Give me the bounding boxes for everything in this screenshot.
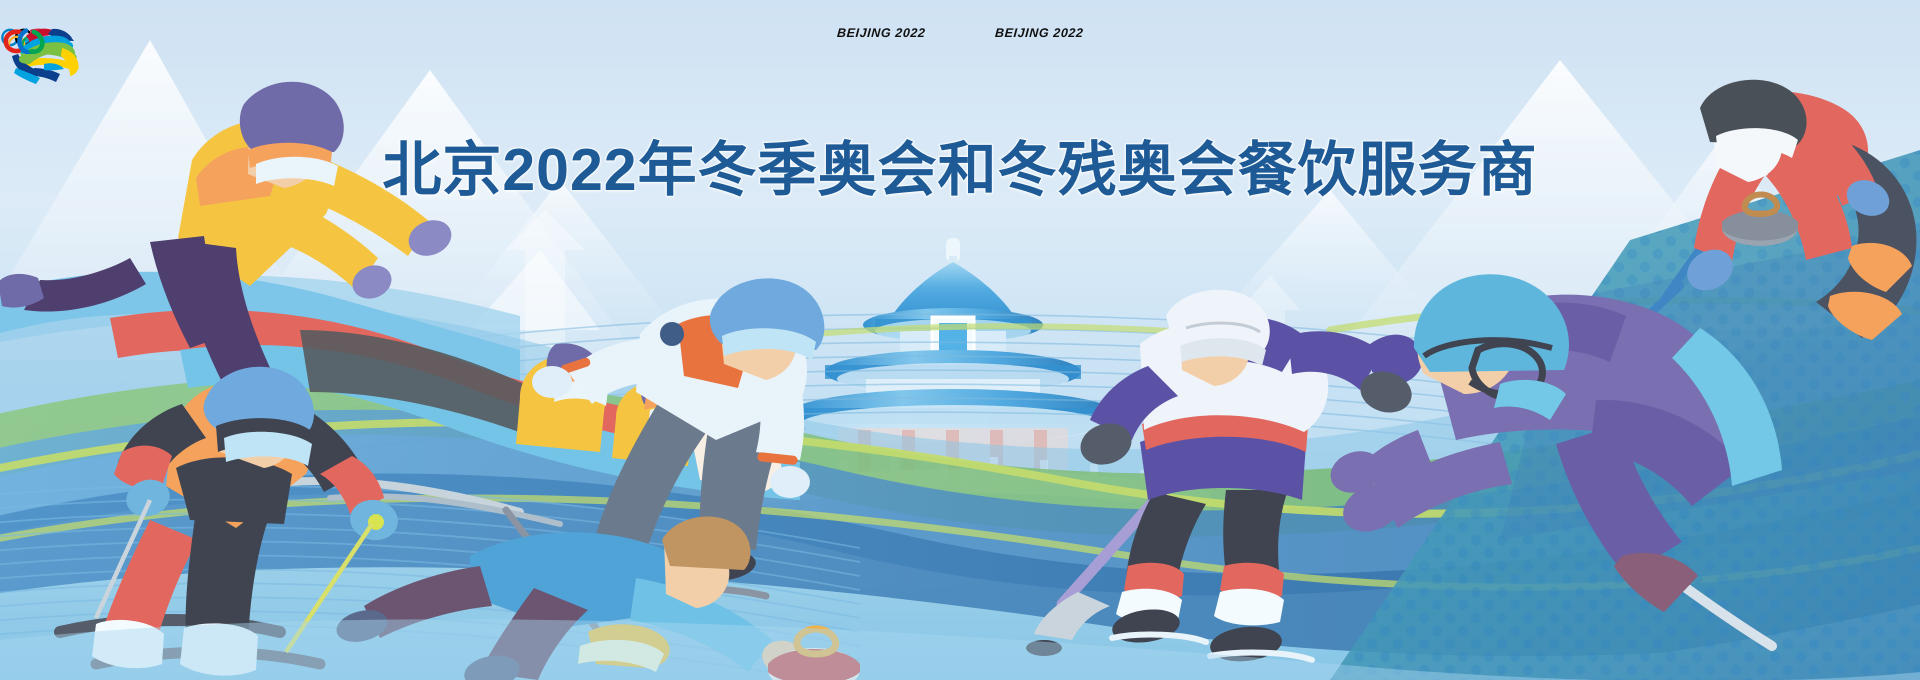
paralympic-wordmark: BEIJING 2022 [994,27,1083,40]
olympic-wordmark: BEIJING 2022 [836,27,925,40]
paralympic-emblem: BEIJING 2022 [989,24,1089,40]
olympic-banner: BEIJING 2022 BEIJING 2022 [0,0,1920,680]
banner-artwork [0,0,1920,680]
olympic-emblem: BEIJING 2022 [831,24,931,40]
page-title: 北京2022年冬季奥会和冬残奥会餐饮服务商 [0,122,1920,207]
paralympic-agitos-icon [0,28,52,54]
emblem-row: BEIJING 2022 BEIJING 2022 [0,24,1920,40]
